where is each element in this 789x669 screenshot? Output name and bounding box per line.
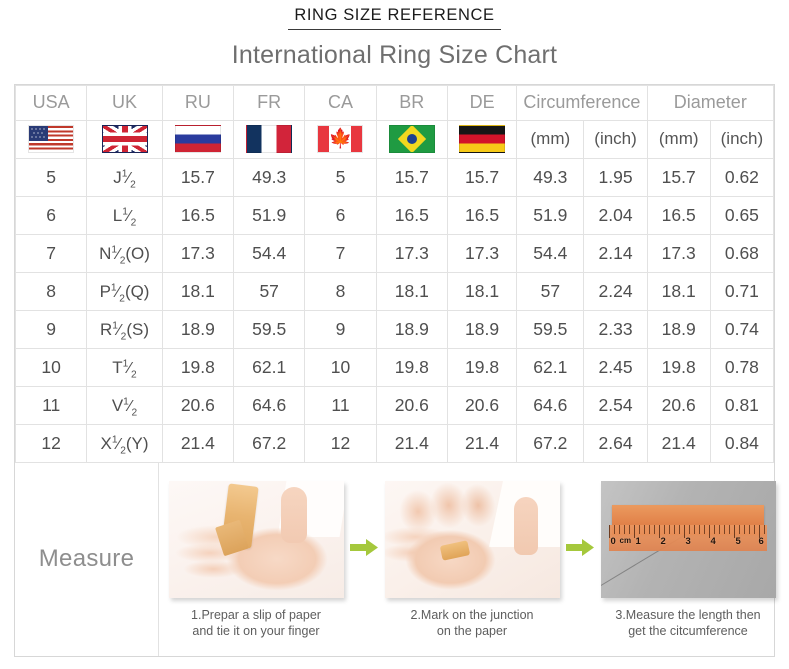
table-row: 12X1⁄2(Y)21.467.21221.421.467.22.6421.40… xyxy=(16,424,774,462)
ring-size-reference-page: RING SIZE REFERENCE International Ring S… xyxy=(0,0,789,669)
cell-diameter-inch: 0.74 xyxy=(710,310,773,348)
cell-ca-size: 6 xyxy=(305,196,376,234)
ruler-mark: 3 xyxy=(686,536,691,547)
cell-diameter-mm: 15.7 xyxy=(647,158,710,196)
table-row: 7N1⁄2(O)17.354.4717.317.354.42.1417.30.6… xyxy=(16,234,774,272)
unit-diameter-inch: (inch) xyxy=(710,120,773,158)
cell-de-size: 21.4 xyxy=(447,424,516,462)
step-2-photo xyxy=(385,481,560,598)
cell-diameter-inch: 0.65 xyxy=(710,196,773,234)
step-3-caption-line1: 3.Measure the length then xyxy=(615,608,760,622)
table-flag-row: 🍁 (mm) (inch) (mm) (inch) xyxy=(16,120,774,158)
flag-cell-de xyxy=(447,120,516,158)
flag-brazil-icon xyxy=(389,125,435,153)
uk-size-fraction: R1⁄2(S) xyxy=(100,320,149,340)
cell-ca-size: 11 xyxy=(305,386,376,424)
cell-de-size: 20.6 xyxy=(447,386,516,424)
table-row: 6L1⁄216.551.9616.516.551.92.0416.50.65 xyxy=(16,196,774,234)
measure-label: Measure xyxy=(39,545,134,573)
cell-usa-size: 10 xyxy=(16,348,87,386)
step-3-caption-line2: get the citcumference xyxy=(628,624,748,638)
ruler-mark: cm xyxy=(620,536,632,545)
ring-size-table-container: USA UK RU FR CA BR DE Circumference Diam… xyxy=(14,84,775,463)
flag-cell-uk xyxy=(87,120,162,158)
cell-circumference-inch: 2.54 xyxy=(584,386,647,424)
page-subtitle: International Ring Size Chart xyxy=(0,41,789,70)
cell-circumference-mm: 62.1 xyxy=(517,348,584,386)
cell-de-size: 18.9 xyxy=(447,310,516,348)
unit-circumference-mm: (mm) xyxy=(517,120,584,158)
cell-br-size: 16.5 xyxy=(376,196,447,234)
cell-ca-size: 10 xyxy=(305,348,376,386)
cell-diameter-mm: 20.6 xyxy=(647,386,710,424)
cell-diameter-mm: 17.3 xyxy=(647,234,710,272)
ring-size-table: USA UK RU FR CA BR DE Circumference Diam… xyxy=(15,85,774,463)
arrow-1 xyxy=(349,539,379,556)
cell-de-size: 16.5 xyxy=(447,196,516,234)
flag-canada-icon: 🍁 xyxy=(317,125,363,153)
cell-uk-size: R1⁄2(S) xyxy=(87,310,162,348)
step-1-photo xyxy=(169,481,344,598)
column-header-usa: USA xyxy=(16,85,87,120)
cell-diameter-inch: 0.78 xyxy=(710,348,773,386)
column-header-ca: CA xyxy=(305,85,376,120)
step-3-caption: 3.Measure the length then get the citcum… xyxy=(595,607,781,640)
measure-steps: 1.Prepar a slip of paper and tie it on y… xyxy=(159,463,785,656)
cell-usa-size: 7 xyxy=(16,234,87,272)
cell-uk-size: V1⁄2 xyxy=(87,386,162,424)
step-2-caption-line1: 2.Mark on the junction xyxy=(411,608,534,622)
arrow-2 xyxy=(565,539,595,556)
measure-step-2: 2.Mark on the junction on the paper xyxy=(379,481,565,640)
page-title: RING SIZE REFERENCE xyxy=(288,5,500,30)
step-1-caption: 1.Prepar a slip of paper and tie it on y… xyxy=(163,607,349,640)
cell-uk-size: J1⁄2 xyxy=(87,158,162,196)
cell-de-size: 19.8 xyxy=(447,348,516,386)
flag-cell-usa xyxy=(16,120,87,158)
uk-size-fraction: P1⁄2(Q) xyxy=(100,282,150,302)
step-3-photo: 0cm123456 xyxy=(601,481,776,598)
cell-de-size: 18.1 xyxy=(447,272,516,310)
ruler-mark: 1 xyxy=(636,536,641,547)
cell-usa-size: 5 xyxy=(16,158,87,196)
cell-ca-size: 9 xyxy=(305,310,376,348)
uk-size-fraction: J1⁄2 xyxy=(113,168,136,188)
flag-france-icon xyxy=(246,125,292,153)
cell-circumference-mm: 57 xyxy=(517,272,584,310)
cell-ru-size: 19.8 xyxy=(162,348,233,386)
title-bar: RING SIZE REFERENCE xyxy=(0,0,789,30)
step-1-caption-line2: and tie it on your finger xyxy=(192,624,319,638)
cell-uk-size: P1⁄2(Q) xyxy=(87,272,162,310)
cell-diameter-mm: 18.1 xyxy=(647,272,710,310)
measure-step-1: 1.Prepar a slip of paper and tie it on y… xyxy=(163,481,349,640)
flag-cell-br xyxy=(376,120,447,158)
flag-uk-icon xyxy=(102,125,148,153)
flag-cell-ca: 🍁 xyxy=(305,120,376,158)
column-header-circumference: Circumference xyxy=(517,85,647,120)
cell-de-size: 15.7 xyxy=(447,158,516,196)
measure-step-3: 0cm123456 3.Measure the length then get … xyxy=(595,481,781,640)
cell-circumference-inch: 2.04 xyxy=(584,196,647,234)
cell-circumference-inch: 2.45 xyxy=(584,348,647,386)
arrow-right-icon xyxy=(350,539,378,556)
cell-ca-size: 12 xyxy=(305,424,376,462)
ruler-graphic: 0cm123456 xyxy=(609,525,767,551)
cell-circumference-mm: 64.6 xyxy=(517,386,584,424)
cell-fr-size: 51.9 xyxy=(234,196,305,234)
cell-ru-size: 15.7 xyxy=(162,158,233,196)
cell-fr-size: 67.2 xyxy=(234,424,305,462)
cell-ca-size: 8 xyxy=(305,272,376,310)
unit-diameter-mm: (mm) xyxy=(647,120,710,158)
measure-label-cell: Measure xyxy=(15,463,159,656)
column-header-de: DE xyxy=(447,85,516,120)
ruler-mark: 5 xyxy=(736,536,741,547)
cell-circumference-inch: 2.14 xyxy=(584,234,647,272)
table-row: 9R1⁄2(S)18.959.5918.918.959.52.3318.90.7… xyxy=(16,310,774,348)
cell-circumference-mm: 51.9 xyxy=(517,196,584,234)
cell-circumference-mm: 67.2 xyxy=(517,424,584,462)
uk-size-fraction: T1⁄2 xyxy=(112,358,136,378)
uk-size-fraction: L1⁄2 xyxy=(113,206,136,226)
table-row: 10T1⁄219.862.11019.819.862.12.4519.80.78 xyxy=(16,348,774,386)
cell-de-size: 17.3 xyxy=(447,234,516,272)
ruler-mark: 2 xyxy=(661,536,666,547)
step-2-caption-line2: on the paper xyxy=(437,624,507,638)
cell-circumference-inch: 2.64 xyxy=(584,424,647,462)
flag-cell-ru xyxy=(162,120,233,158)
step-1-caption-line1: 1.Prepar a slip of paper xyxy=(191,608,321,622)
cell-uk-size: N1⁄2(O) xyxy=(87,234,162,272)
cell-ca-size: 7 xyxy=(305,234,376,272)
table-header-row: USA UK RU FR CA BR DE Circumference Diam… xyxy=(16,85,774,120)
table-body: 5J1⁄215.749.3515.715.749.31.9515.70.626L… xyxy=(16,158,774,462)
cell-circumference-mm: 49.3 xyxy=(517,158,584,196)
cell-usa-size: 11 xyxy=(16,386,87,424)
column-header-uk: UK xyxy=(87,85,162,120)
arrow-right-icon xyxy=(566,539,594,556)
cell-fr-size: 64.6 xyxy=(234,386,305,424)
cell-uk-size: X1⁄2(Y) xyxy=(87,424,162,462)
cell-br-size: 17.3 xyxy=(376,234,447,272)
cell-ru-size: 21.4 xyxy=(162,424,233,462)
cell-diameter-mm: 16.5 xyxy=(647,196,710,234)
flag-germany-icon xyxy=(459,125,505,153)
cell-fr-size: 57 xyxy=(234,272,305,310)
cell-fr-size: 62.1 xyxy=(234,348,305,386)
cell-circumference-inch: 2.33 xyxy=(584,310,647,348)
cell-diameter-mm: 21.4 xyxy=(647,424,710,462)
cell-br-size: 18.9 xyxy=(376,310,447,348)
table-row: 8P1⁄2(Q)18.157818.118.1572.2418.10.71 xyxy=(16,272,774,310)
ruler-mark: 6 xyxy=(759,536,764,547)
cell-circumference-inch: 1.95 xyxy=(584,158,647,196)
flag-cell-fr xyxy=(234,120,305,158)
cell-diameter-inch: 0.68 xyxy=(710,234,773,272)
cell-diameter-mm: 19.8 xyxy=(647,348,710,386)
cell-usa-size: 12 xyxy=(16,424,87,462)
cell-ru-size: 16.5 xyxy=(162,196,233,234)
unit-circumference-inch: (inch) xyxy=(584,120,647,158)
cell-br-size: 21.4 xyxy=(376,424,447,462)
cell-br-size: 19.8 xyxy=(376,348,447,386)
cell-br-size: 18.1 xyxy=(376,272,447,310)
cell-diameter-inch: 0.84 xyxy=(710,424,773,462)
cell-fr-size: 59.5 xyxy=(234,310,305,348)
cell-ru-size: 18.1 xyxy=(162,272,233,310)
column-header-ru: RU xyxy=(162,85,233,120)
cell-usa-size: 8 xyxy=(16,272,87,310)
cell-br-size: 15.7 xyxy=(376,158,447,196)
cell-ru-size: 18.9 xyxy=(162,310,233,348)
uk-size-fraction: V1⁄2 xyxy=(112,396,137,416)
table-row: 11V1⁄220.664.61120.620.664.62.5420.60.81 xyxy=(16,386,774,424)
column-header-br: BR xyxy=(376,85,447,120)
cell-ca-size: 5 xyxy=(305,158,376,196)
cell-diameter-inch: 0.62 xyxy=(710,158,773,196)
ruler-mark: 4 xyxy=(711,536,716,547)
column-header-diameter: Diameter xyxy=(647,85,773,120)
cell-circumference-mm: 54.4 xyxy=(517,234,584,272)
cell-usa-size: 9 xyxy=(16,310,87,348)
cell-fr-size: 49.3 xyxy=(234,158,305,196)
cell-uk-size: T1⁄2 xyxy=(87,348,162,386)
cell-diameter-inch: 0.81 xyxy=(710,386,773,424)
cell-circumference-mm: 59.5 xyxy=(517,310,584,348)
column-header-fr: FR xyxy=(234,85,305,120)
table-row: 5J1⁄215.749.3515.715.749.31.9515.70.62 xyxy=(16,158,774,196)
cell-ru-size: 20.6 xyxy=(162,386,233,424)
uk-size-fraction: X1⁄2(Y) xyxy=(101,434,149,454)
step-2-caption: 2.Mark on the junction on the paper xyxy=(379,607,565,640)
cell-usa-size: 6 xyxy=(16,196,87,234)
cell-circumference-inch: 2.24 xyxy=(584,272,647,310)
cell-br-size: 20.6 xyxy=(376,386,447,424)
uk-size-fraction: N1⁄2(O) xyxy=(99,244,150,264)
flag-usa-icon xyxy=(28,125,74,153)
flag-russia-icon xyxy=(175,125,221,153)
cell-uk-size: L1⁄2 xyxy=(87,196,162,234)
measure-section: Measure 1.Prepar a slip of paper and tie… xyxy=(14,463,775,657)
cell-fr-size: 54.4 xyxy=(234,234,305,272)
cell-diameter-mm: 18.9 xyxy=(647,310,710,348)
ruler-mark: 0 xyxy=(611,536,616,547)
cell-diameter-inch: 0.71 xyxy=(710,272,773,310)
cell-ru-size: 17.3 xyxy=(162,234,233,272)
